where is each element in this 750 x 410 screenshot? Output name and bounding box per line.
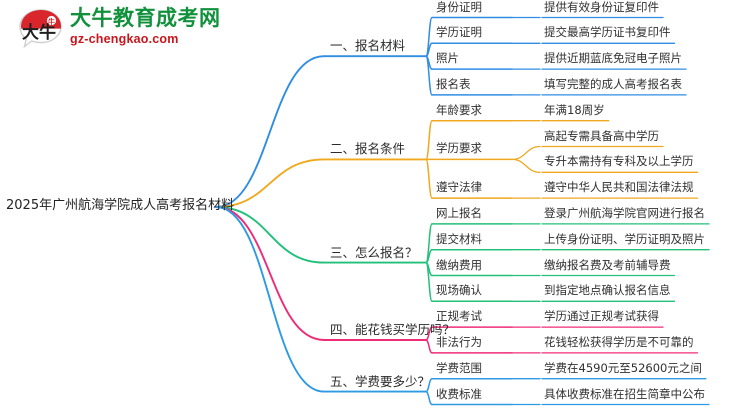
detail-label-5-2-1[interactable]: 具体收费标准在招生简章中公布 bbox=[544, 389, 705, 401]
child-label-1-4[interactable]: 报名表 bbox=[436, 79, 471, 91]
child-label-4-1[interactable]: 正规考试 bbox=[436, 311, 482, 323]
root-node[interactable]: 2025年广州航海学院成人高考报名材料 bbox=[6, 199, 234, 212]
detail-label-1-4-1[interactable]: 填写完整的成人高考报名表 bbox=[544, 79, 682, 91]
child-label-5-2[interactable]: 收费标准 bbox=[436, 389, 482, 401]
detail-label-1-2-1[interactable]: 提交最高学历证书复印件 bbox=[544, 27, 671, 39]
branch-label-5[interactable]: 五、学费要多少？ bbox=[330, 376, 430, 389]
child-label-3-3[interactable]: 缴纳费用 bbox=[436, 260, 482, 272]
detail-label-3-3-1[interactable]: 缴纳报名费及考前辅导费 bbox=[544, 260, 671, 272]
child-label-3-2[interactable]: 提交材料 bbox=[436, 234, 482, 246]
child-label-2-1[interactable]: 年龄要求 bbox=[436, 105, 482, 117]
child-label-1-1[interactable]: 身份证明 bbox=[436, 2, 482, 14]
child-label-3-4[interactable]: 现场确认 bbox=[436, 285, 482, 297]
mindmap: 2025年广州航海学院成人高考报名材料一、报名材料身份证明提供有效身份证复印件学… bbox=[0, 0, 750, 410]
child-label-2-2[interactable]: 学历要求 bbox=[436, 143, 482, 155]
child-label-4-2[interactable]: 非法行为 bbox=[436, 337, 482, 349]
child-label-5-1[interactable]: 学费范围 bbox=[436, 363, 482, 375]
detail-label-3-2-1[interactable]: 上传身份证明、学历证明及照片 bbox=[544, 234, 705, 246]
detail-label-2-1-1[interactable]: 年满18周岁 bbox=[544, 105, 605, 117]
detail-label-1-1-1[interactable]: 提供有效身份证复印件 bbox=[544, 2, 659, 14]
detail-label-2-3-1[interactable]: 遵守中华人民共和国法律法规 bbox=[544, 182, 694, 194]
detail-label-4-1-1[interactable]: 学历通过正规考试获得 bbox=[544, 311, 659, 323]
branch-label-1[interactable]: 一、报名材料 bbox=[330, 40, 405, 53]
detail-label-2-2-1[interactable]: 高起专需具备高中学历 bbox=[544, 131, 659, 143]
detail-label-4-2-1[interactable]: 花钱轻松获得学历是不可靠的 bbox=[544, 337, 694, 349]
branch-label-2[interactable]: 二、报名条件 bbox=[330, 143, 405, 156]
detail-label-3-1-1[interactable]: 登录广州航海学院官网进行报名 bbox=[544, 208, 705, 220]
mindmap-page: 牛 大牛 大牛教育成考网 gz-chengkao.com 2025年广州航海学院… bbox=[0, 0, 750, 410]
detail-label-3-4-1[interactable]: 到指定地点确认报名信息 bbox=[544, 285, 671, 297]
detail-label-1-3-1[interactable]: 提供近期蓝底免冠电子照片 bbox=[544, 53, 682, 65]
branch-label-3[interactable]: 三、怎么报名？ bbox=[330, 247, 418, 260]
child-label-1-3[interactable]: 照片 bbox=[436, 53, 459, 65]
detail-label-2-2-2[interactable]: 专升本需持有专科及以上学历 bbox=[544, 156, 694, 168]
child-label-1-2[interactable]: 学历证明 bbox=[436, 27, 482, 39]
child-label-2-3[interactable]: 遵守法律 bbox=[436, 182, 482, 194]
child-label-3-1[interactable]: 网上报名 bbox=[436, 208, 482, 220]
detail-label-5-1-1[interactable]: 学费在4590元至52600元之间 bbox=[544, 363, 702, 375]
